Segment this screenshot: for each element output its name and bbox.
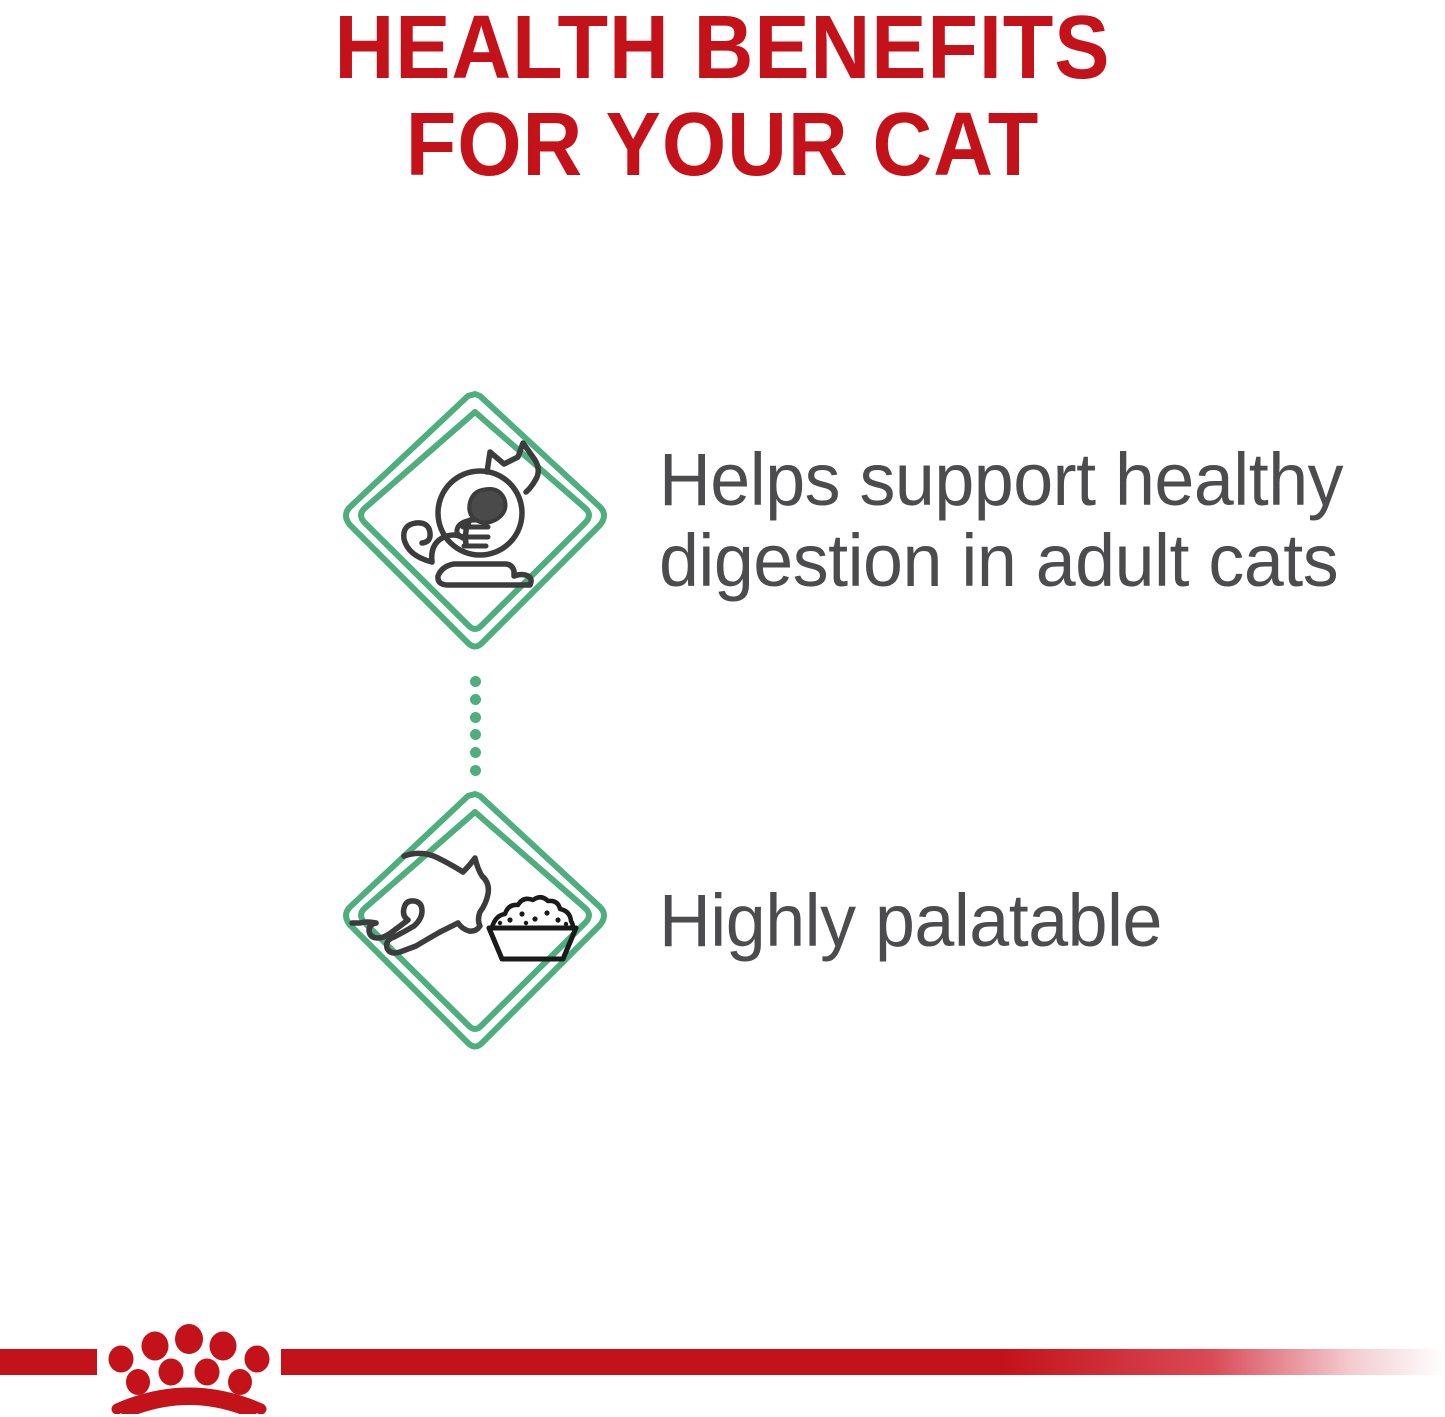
benefit-icon-frame-palatability	[325, 780, 625, 1060]
royal-canin-crown-icon	[97, 1321, 282, 1414]
benefit-item-palatability: Highly palatable	[0, 780, 1445, 1060]
benefit-text-palatability: Highly palatable	[625, 880, 1420, 961]
benefits-list: Helps support healthy digestion in adult…	[0, 380, 1445, 1060]
benefit-text-digestion: Helps support healthy digestion in adult…	[625, 439, 1420, 601]
page-title-line-2: FOR YOUR CAT	[58, 97, 1387, 194]
benefit-item-digestion: Helps support healthy digestion in adult…	[0, 380, 1445, 660]
connector-dot	[470, 729, 481, 740]
cat-digestion-icon	[330, 380, 620, 660]
page-title: HEALTH BENEFITS FOR YOUR CAT	[0, 0, 1445, 194]
footer-bar-left	[0, 1349, 97, 1375]
connector-dot	[470, 747, 481, 758]
dotted-connector	[464, 676, 486, 776]
brand-footer	[0, 1317, 1445, 1417]
connector-dot	[470, 765, 481, 776]
connector-dot	[470, 676, 481, 687]
footer-bar-right	[281, 1349, 1445, 1375]
kibble-dots	[498, 910, 568, 926]
connector-dot	[470, 694, 481, 705]
connector-dot	[470, 712, 481, 723]
page-title-line-1: HEALTH BENEFITS	[58, 0, 1387, 97]
cat-eating-bowl-icon	[330, 780, 620, 1060]
benefit-icon-frame-digestion	[325, 380, 625, 660]
